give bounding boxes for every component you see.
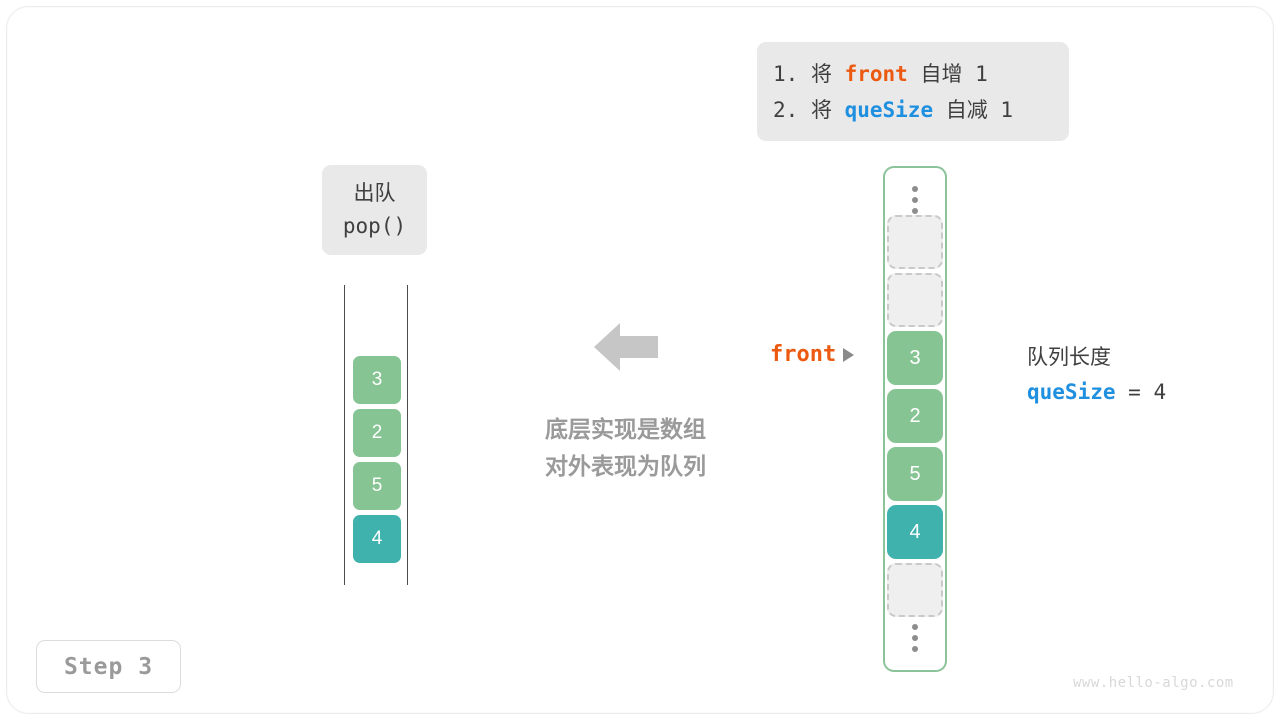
array-cell: 5	[887, 447, 943, 501]
caption-line-1: 底层实现是数组	[528, 411, 723, 448]
instruction-line-2-tail: 自减 1	[933, 98, 1013, 122]
queue-cell-list: 3254	[353, 356, 401, 568]
instruction-line-1-index: 1.	[773, 62, 811, 86]
step-badge-label: Step 3	[64, 654, 153, 680]
array-cell: 2	[887, 389, 943, 443]
instruction-line-2-verb: 将	[811, 98, 845, 122]
front-pointer: front	[770, 342, 854, 367]
dot	[912, 646, 918, 652]
step-badge: Step 3	[36, 640, 181, 693]
pop-label-function: pop()	[322, 210, 427, 242]
implementation-caption: 底层实现是数组 对外表现为队列	[528, 411, 723, 485]
array-cell: 4	[887, 505, 943, 559]
pop-operation-label: 出队 pop()	[322, 165, 427, 255]
quesize-title: 队列长度	[1027, 341, 1166, 375]
queue-cell: 5	[353, 462, 401, 510]
array-cell-empty	[887, 563, 943, 617]
queue-cell: 3	[353, 356, 401, 404]
pop-label-title: 出队	[322, 178, 427, 210]
array-cell: 3	[887, 331, 943, 385]
queue-rail-right	[407, 285, 408, 585]
instruction-line-2-index: 2.	[773, 98, 811, 122]
caption-line-2: 对外表现为队列	[528, 448, 723, 485]
dot	[912, 635, 918, 641]
quesize-variable: queSize	[1027, 380, 1116, 404]
instruction-line-1-tail: 自增 1	[908, 62, 988, 86]
queue-rail-left	[344, 285, 345, 585]
dot	[912, 624, 918, 630]
quesize-expression: queSize = 4	[1027, 375, 1166, 409]
left-arrow-icon	[594, 320, 658, 374]
pointer-arrowhead-icon	[843, 348, 854, 362]
array-cell-empty	[887, 273, 943, 327]
quesize-annotation: 队列长度 queSize = 4	[1027, 341, 1166, 409]
dot	[912, 186, 918, 192]
instruction-line-1-keyword: front	[845, 62, 908, 86]
queue-cell: 4	[353, 515, 401, 563]
array-cell-empty	[887, 215, 943, 269]
dot	[912, 197, 918, 203]
array-ellipsis-top-icon	[912, 186, 918, 214]
instruction-line-1: 1. 将 front 自增 1	[773, 56, 1069, 92]
queue-cell: 2	[353, 409, 401, 457]
array-ellipsis-bottom-icon	[912, 624, 918, 652]
quesize-value: 4	[1153, 380, 1166, 404]
diagram-canvas: 1. 将 front 自增 1 2. 将 queSize 自减 1 出队 pop…	[0, 0, 1280, 720]
instruction-line-1-verb: 将	[811, 62, 845, 86]
array-cell-list: 3254	[887, 215, 943, 621]
instruction-line-2: 2. 将 queSize 自减 1	[773, 92, 1069, 128]
instruction-callout: 1. 将 front 自增 1 2. 将 queSize 自减 1	[757, 42, 1069, 141]
quesize-operator: =	[1116, 380, 1154, 404]
front-pointer-label: front	[770, 342, 836, 367]
array-storage-view: 3254	[883, 166, 947, 672]
instruction-line-2-keyword: queSize	[845, 98, 934, 122]
queue-abstract-view: 3254	[344, 285, 410, 585]
dot	[912, 208, 918, 214]
watermark: www.hello-algo.com	[1073, 675, 1234, 691]
